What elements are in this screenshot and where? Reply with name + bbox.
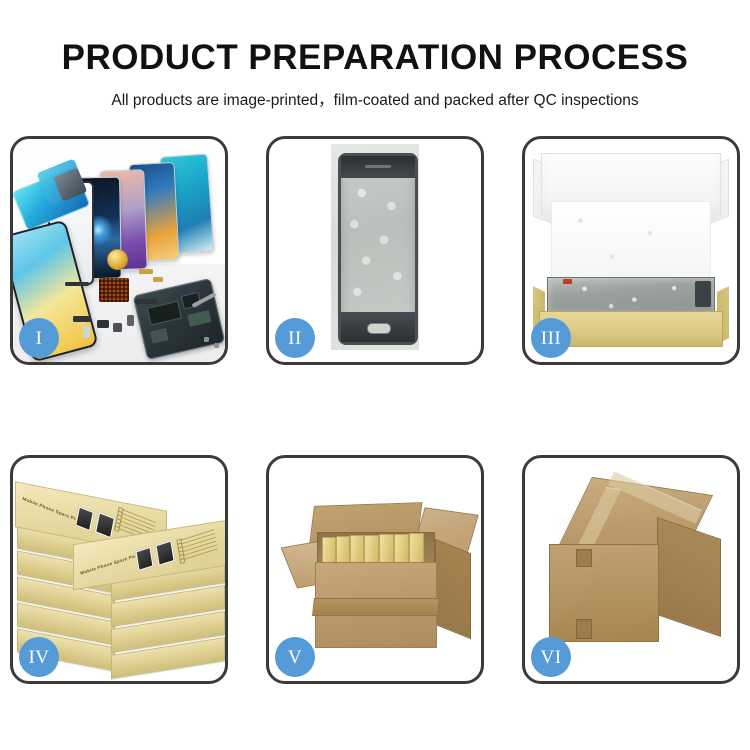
step-panel-6: VI bbox=[522, 455, 740, 684]
page-title: PRODUCT PREPARATION PROCESS bbox=[0, 40, 750, 75]
carton-side-face bbox=[657, 517, 721, 637]
carton-tab bbox=[576, 619, 592, 639]
small-part bbox=[135, 299, 157, 304]
step-badge-2: II bbox=[275, 318, 315, 358]
copper-mesh-part bbox=[99, 278, 129, 302]
step-badge-6: VI bbox=[531, 637, 571, 677]
box-product-thumb bbox=[134, 546, 154, 573]
box-checklist bbox=[180, 524, 225, 563]
small-part bbox=[153, 277, 163, 282]
open-carton bbox=[293, 498, 469, 654]
step-panel-5: V bbox=[266, 455, 484, 684]
small-part bbox=[113, 323, 122, 332]
screen-connector bbox=[695, 281, 711, 307]
box-product-thumb bbox=[154, 539, 175, 567]
step-panel-1: I bbox=[10, 136, 228, 365]
screw-part bbox=[214, 343, 219, 348]
red-label-mark bbox=[563, 279, 572, 284]
step-panel-3: III bbox=[522, 136, 740, 365]
carton-flap-front bbox=[312, 598, 440, 616]
carton-side-right bbox=[435, 539, 471, 640]
small-part bbox=[73, 316, 91, 322]
step-badge-4: IV bbox=[19, 637, 59, 677]
steps-grid: I II bbox=[10, 136, 740, 684]
vibration-motor-part bbox=[107, 249, 128, 270]
white-foam-pad bbox=[551, 201, 711, 281]
earpiece-slot bbox=[365, 165, 391, 168]
step-badge-1: I bbox=[19, 318, 59, 358]
small-part bbox=[139, 269, 153, 274]
step-panel-2: II bbox=[266, 136, 484, 365]
page-subtitle: All products are image-printed，film-coat… bbox=[0, 88, 750, 110]
board-chip bbox=[147, 301, 182, 326]
carton-tab bbox=[576, 549, 592, 567]
small-part bbox=[97, 320, 109, 328]
step-badge-5: V bbox=[275, 637, 315, 677]
phone-front-glass bbox=[338, 153, 418, 345]
product-preparation-infographic: PRODUCT PREPARATION PROCESS All products… bbox=[0, 0, 750, 750]
home-button bbox=[367, 323, 391, 334]
carton-front-face bbox=[549, 544, 659, 642]
screw-part bbox=[204, 337, 209, 342]
bubble-texture bbox=[341, 180, 415, 310]
box-product-thumb bbox=[94, 511, 116, 540]
header: PRODUCT PREPARATION PROCESS All products… bbox=[0, 0, 750, 110]
sealed-carton bbox=[547, 486, 723, 648]
board-chip bbox=[150, 328, 168, 343]
small-part bbox=[127, 315, 134, 326]
step-badge-3: III bbox=[531, 318, 571, 358]
box-product-thumb bbox=[74, 505, 95, 532]
small-part bbox=[83, 326, 90, 338]
packed-screen bbox=[547, 277, 715, 315]
step-panel-4: Mobile Phone Spare Parts bbox=[10, 455, 228, 684]
box-brand-label: Mobile Phone Spare Parts bbox=[80, 552, 142, 576]
small-part bbox=[65, 282, 89, 286]
board-chip bbox=[187, 310, 211, 327]
